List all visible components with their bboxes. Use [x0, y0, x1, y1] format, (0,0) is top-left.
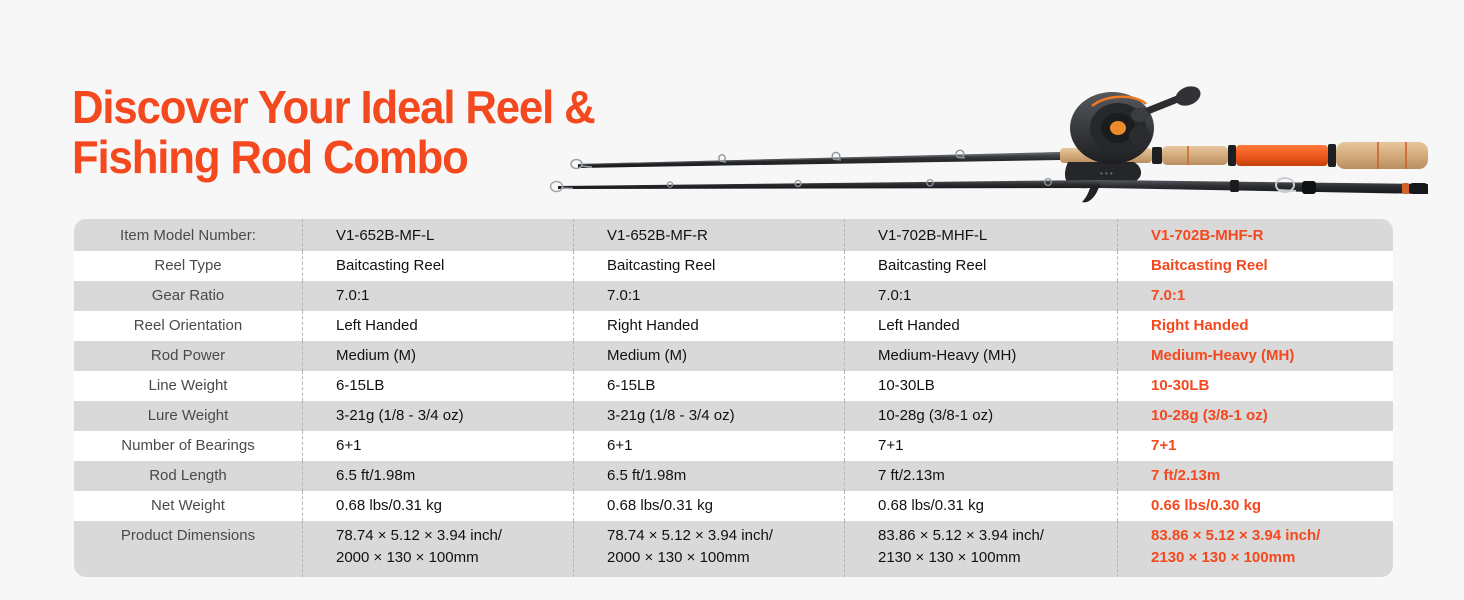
spec-value: Baitcasting Reel [573, 251, 844, 281]
spec-comparison-table: Item Model Number:V1-652B-MF-LV1-652B-MF… [74, 219, 1393, 577]
spec-value: Left Handed [844, 311, 1117, 341]
spec-value: 7.0:1 [844, 281, 1117, 311]
spec-label: Gear Ratio [74, 281, 302, 311]
spec-value-highlighted: 0.66 lbs/0.30 kg [1117, 491, 1393, 521]
spec-value: Baitcasting Reel [844, 251, 1117, 281]
table-row: Rod Length6.5 ft/1.98m6.5 ft/1.98m7 ft/2… [74, 461, 1393, 491]
spec-value: V1-652B-MF-R [573, 219, 844, 251]
spec-value: Medium (M) [302, 341, 573, 371]
spec-value: 3-21g (1/8 - 3/4 oz) [302, 401, 573, 431]
table-row: Reel TypeBaitcasting ReelBaitcasting Ree… [74, 251, 1393, 281]
spec-value-highlighted: Right Handed [1117, 311, 1393, 341]
orange-accent [1236, 145, 1328, 166]
spec-label: Lure Weight [74, 401, 302, 431]
spec-value: 6.5 ft/1.98m [573, 461, 844, 491]
spec-value: 10-28g (3/8-1 oz) [844, 401, 1117, 431]
spec-value: 0.68 lbs/0.31 kg [302, 491, 573, 521]
spec-value: 7 ft/2.13m [844, 461, 1117, 491]
spec-value: Left Handed [302, 311, 573, 341]
spec-value-highlighted: Baitcasting Reel [1117, 251, 1393, 281]
spec-value: 0.68 lbs/0.31 kg [844, 491, 1117, 521]
spec-label: Product Dimensions [74, 521, 302, 555]
spec-value: 10-30LB [844, 371, 1117, 401]
table-row: Number of Bearings6+16+17+17+1 [74, 431, 1393, 461]
spec-value: 6-15LB [573, 371, 844, 401]
spec-value: 6.5 ft/1.98m [302, 461, 573, 491]
rod-upper-section [571, 150, 1060, 168]
spec-value: 83.86 × 5.12 × 3.94 inch/ 2130 × 130 × 1… [844, 521, 1117, 577]
spec-value-highlighted: 83.86 × 5.12 × 3.94 inch/ 2130 × 130 × 1… [1117, 521, 1393, 577]
spec-value: 3-21g (1/8 - 3/4 oz) [573, 401, 844, 431]
spec-value: 7.0:1 [573, 281, 844, 311]
spec-label: Rod Length [74, 461, 302, 491]
table-row: Net Weight0.68 lbs/0.31 kg0.68 lbs/0.31 … [74, 491, 1393, 521]
table-row: Item Model Number:V1-652B-MF-LV1-652B-MF… [74, 219, 1393, 251]
product-image: • • • [540, 84, 1440, 209]
table-row: Product Dimensions78.74 × 5.12 × 3.94 in… [74, 521, 1393, 577]
spec-value-highlighted: 7+1 [1117, 431, 1393, 461]
spec-value: Medium (M) [573, 341, 844, 371]
spec-value: 78.74 × 5.12 × 3.94 inch/ 2000 × 130 × 1… [573, 521, 844, 577]
spec-label: Line Weight [74, 371, 302, 401]
spec-value: Medium-Heavy (MH) [844, 341, 1117, 371]
spec-value: Right Handed [573, 311, 844, 341]
spec-value-highlighted: 10-28g (3/8-1 oz) [1117, 401, 1393, 431]
spec-value: 0.68 lbs/0.31 kg [573, 491, 844, 521]
spec-value-highlighted: 7.0:1 [1117, 281, 1393, 311]
spec-label: Number of Bearings [74, 431, 302, 461]
spec-label: Item Model Number: [74, 219, 302, 251]
spec-value: 7+1 [844, 431, 1117, 461]
table-row: Lure Weight3-21g (1/8 - 3/4 oz)3-21g (1/… [74, 401, 1393, 431]
spec-value: 7.0:1 [302, 281, 573, 311]
spec-value: 78.74 × 5.12 × 3.94 inch/ 2000 × 130 × 1… [302, 521, 573, 577]
spec-value: V1-652B-MF-L [302, 219, 573, 251]
spec-value: 6-15LB [302, 371, 573, 401]
spec-value-highlighted: Medium-Heavy (MH) [1117, 341, 1393, 371]
spec-label: Rod Power [74, 341, 302, 371]
spec-value: Baitcasting Reel [302, 251, 573, 281]
reel-brand-mark: • • • [1100, 169, 1113, 178]
line-guide [956, 150, 965, 158]
spec-value-highlighted: 10-30LB [1117, 371, 1393, 401]
rod-lower-section [551, 178, 1429, 194]
spec-label: Reel Type [74, 251, 302, 281]
spec-value: 6+1 [302, 431, 573, 461]
spec-value: 6+1 [573, 431, 844, 461]
spec-label: Net Weight [74, 491, 302, 521]
table-row: Gear Ratio7.0:17.0:17.0:17.0:1 [74, 281, 1393, 311]
table-row: Reel OrientationLeft HandedRight HandedL… [74, 311, 1393, 341]
table-row: Line Weight6-15LB6-15LB10-30LB10-30LB [74, 371, 1393, 401]
spec-value-highlighted: 7 ft/2.13m [1117, 461, 1393, 491]
spec-value-highlighted: V1-702B-MHF-R [1117, 219, 1393, 251]
cork-butt-grip [1336, 142, 1428, 169]
table-row: Rod PowerMedium (M)Medium (M)Medium-Heav… [74, 341, 1393, 371]
spec-value: V1-702B-MHF-L [844, 219, 1117, 251]
spec-label: Reel Orientation [74, 311, 302, 341]
